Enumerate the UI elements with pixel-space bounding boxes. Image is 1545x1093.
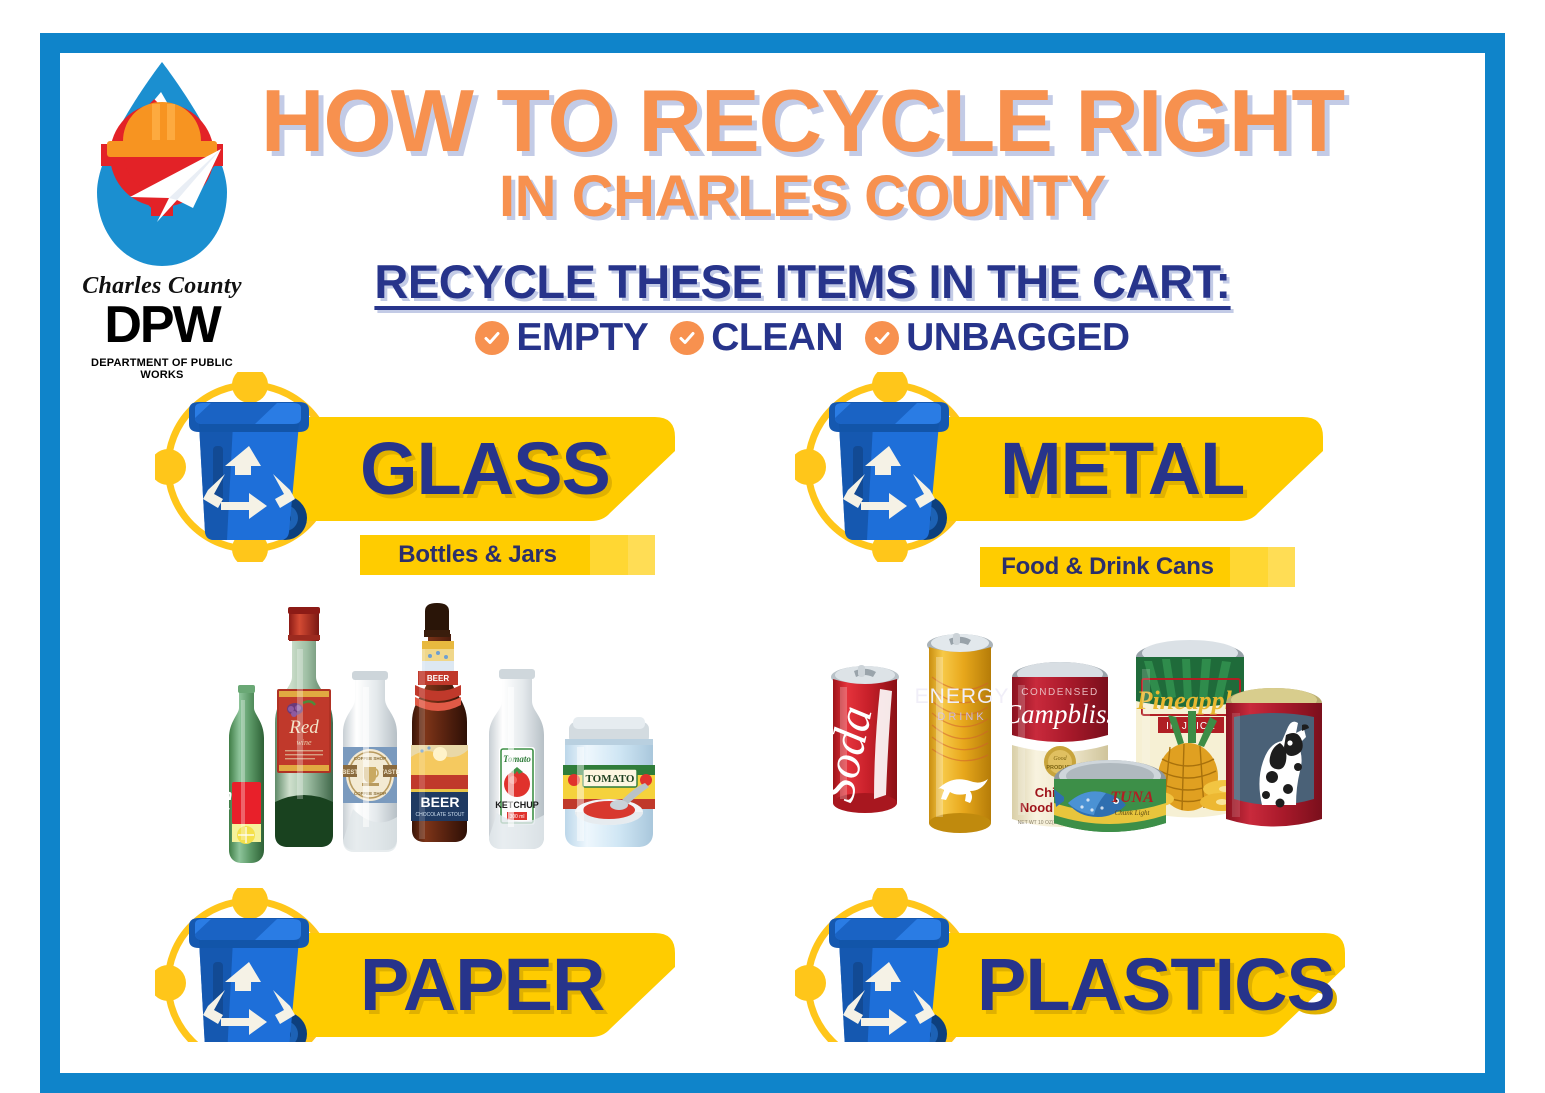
green-soda-bottle: Sun Dew (225, 685, 264, 863)
recycle-bin-icon (181, 394, 321, 544)
svg-text:ENERGY: ENERGY (915, 685, 1010, 708)
svg-text:KETCHUP: KETCHUP (495, 800, 539, 810)
svg-text:TASTE: TASTE (380, 770, 399, 776)
category-glass: GLASS Bottles & Jars (155, 372, 685, 872)
instruction-heading: RECYCLE THESE ITEMS IN THE CART: (215, 258, 1390, 305)
glass-subbanner: Bottles & Jars (360, 535, 655, 575)
recycle-bin-icon (821, 910, 961, 1042)
subbanner-fade-1 (1230, 547, 1268, 587)
category-paper: PAPER (155, 888, 715, 1042)
paper-title: PAPER (360, 933, 604, 1037)
metal-subbanner: Food & Drink Cans (980, 547, 1295, 587)
subbanner-fade-1 (590, 535, 628, 575)
requirements-row: EMPTY CLEAN UNBAGGED (215, 318, 1390, 357)
pet-food-can (1226, 688, 1322, 827)
metal-subtitle: Food & Drink Cans (980, 547, 1235, 587)
paper-banner: PAPER (265, 933, 675, 1037)
svg-text:BEST: BEST (342, 770, 358, 776)
metal-items-group: Soda ENERGY (810, 617, 1340, 857)
category-metal: METAL Food & Drink Cans (795, 372, 1355, 872)
check-circle-icon (670, 321, 704, 355)
requirement-clean: CLEAN (670, 318, 843, 357)
category-plastics: PLASTICS (795, 888, 1395, 1042)
metal-banner: METAL (905, 417, 1323, 521)
tuna-can: TUNA Chunk Light (1054, 760, 1166, 832)
page-subtitle-county: IN CHARLES COUNTY (215, 168, 1390, 226)
svg-text:Chunk Light: Chunk Light (1115, 809, 1151, 817)
requirement-empty: EMPTY (475, 318, 648, 357)
requirement-unbagged: UNBAGGED (865, 318, 1130, 357)
svg-text:TUNA: TUNA (1110, 789, 1154, 806)
metal-title: METAL (1000, 417, 1244, 521)
svg-text:CONDENSED: CONDENSED (1021, 687, 1098, 698)
page-title: HOW TO RECYCLE RIGHT (215, 78, 1390, 164)
milk-bottle: COFFEE SHOP COFFEE SHOP BEST TASTE (342, 671, 400, 852)
svg-text:Good: Good (1053, 756, 1067, 762)
poster-header: Charles County DPW DEPARTMENT OF PUBLIC … (0, 0, 1545, 375)
svg-text:BEER: BEER (421, 794, 460, 810)
soda-can: Soda (811, 665, 899, 813)
ketchup-bottle: Tomato KETCHUP 300 ml (489, 669, 544, 849)
svg-text:DRINK: DRINK (937, 711, 986, 723)
svg-text:TOMATO: TOMATO (586, 773, 635, 785)
recycling-poster: Charles County DPW DEPARTMENT OF PUBLIC … (0, 0, 1545, 1042)
subbanner-fade-2 (628, 535, 655, 575)
requirement-label: CLEAN (711, 318, 843, 357)
svg-text:COFFEE SHOP: COFFEE SHOP (354, 756, 386, 761)
recycle-bin-icon (821, 394, 961, 544)
requirement-label: EMPTY (516, 318, 648, 357)
requirement-label: UNBAGGED (906, 318, 1130, 357)
glass-subtitle: Bottles & Jars (360, 535, 595, 575)
recycle-bin-icon (181, 910, 321, 1042)
energy-drink-can: ENERGY DRINK (915, 633, 1010, 833)
svg-text:Red: Red (288, 717, 319, 738)
check-circle-icon (475, 321, 509, 355)
plastics-banner: PLASTICS (905, 933, 1345, 1037)
wine-bottle: Red wine (275, 607, 333, 847)
svg-text:COFFEE SHOP: COFFEE SHOP (354, 791, 386, 796)
glass-banner: GLASS (265, 417, 675, 521)
beer-bottle: BEER BEER CHOCOLATE STOUT (411, 603, 468, 842)
svg-text:BEER: BEER (427, 674, 449, 683)
subbanner-fade-2 (1268, 547, 1295, 587)
glass-title: GLASS (360, 417, 610, 521)
tomato-jar: TOMATO (563, 717, 655, 847)
glass-items-group: Sun Dew (225, 597, 685, 877)
check-circle-icon (865, 321, 899, 355)
plastics-title: PLASTICS (977, 933, 1335, 1037)
svg-text:Tomato: Tomato (503, 754, 531, 764)
